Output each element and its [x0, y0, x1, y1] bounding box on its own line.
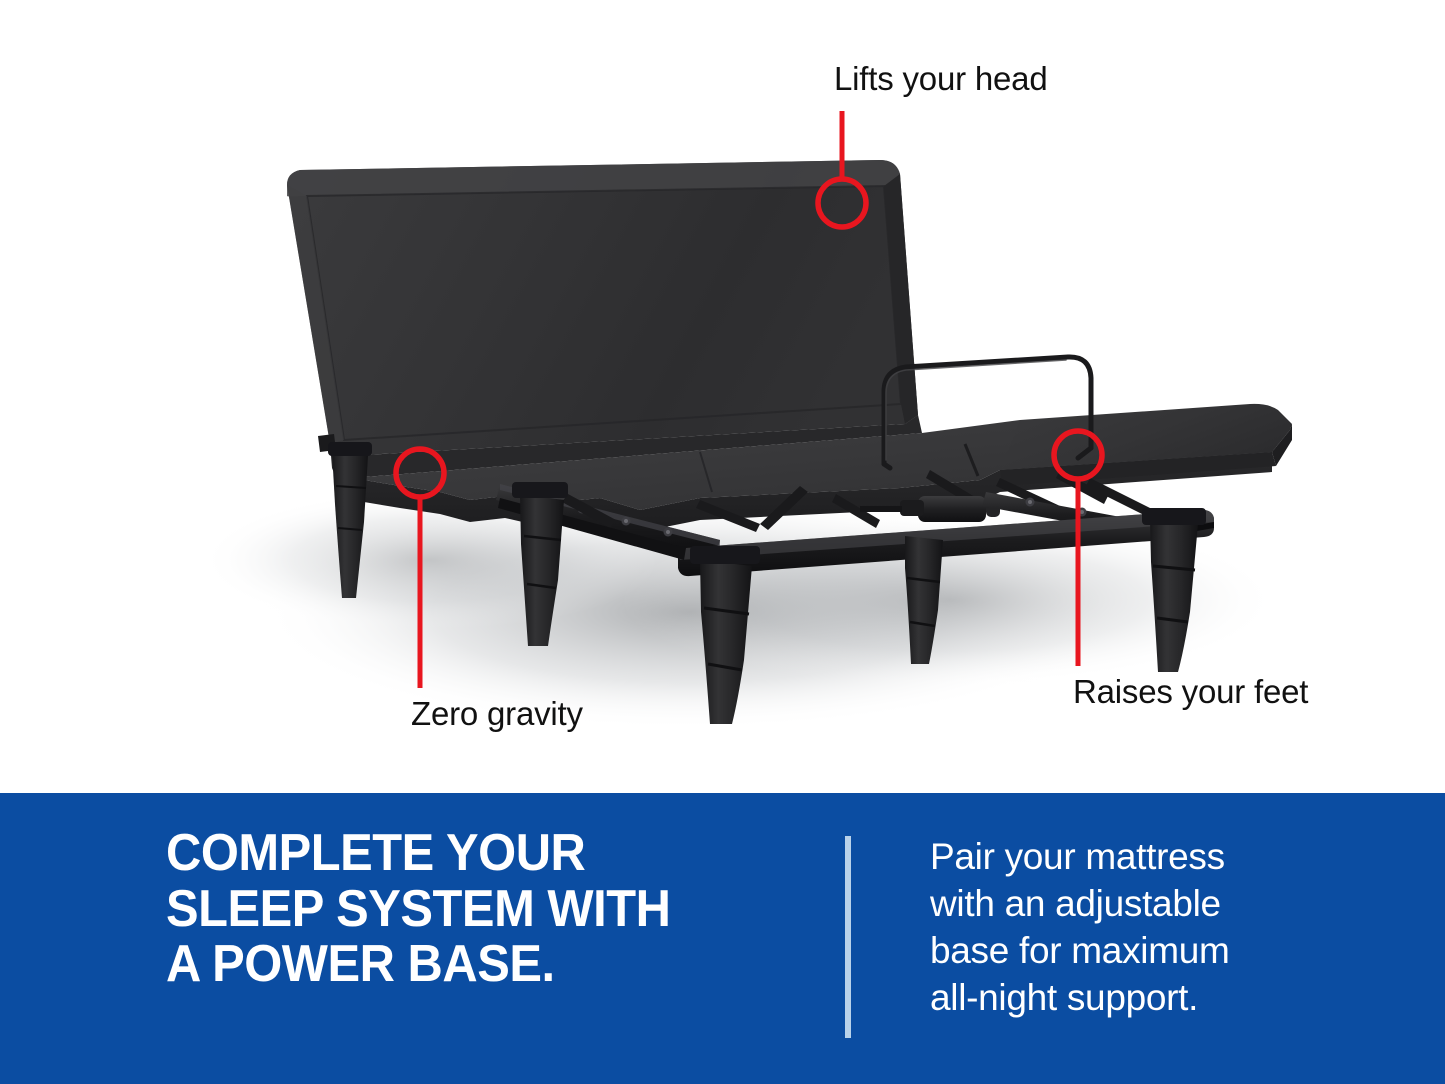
- subcopy-line-1: Pair your mattress: [930, 834, 1330, 881]
- marketing-image-root: Lifts your head Zero gravity Raises your…: [0, 0, 1445, 1084]
- subcopy-line-4: all-night support.: [930, 975, 1330, 1022]
- product-photo-area: Lifts your head Zero gravity Raises your…: [0, 0, 1445, 793]
- subcopy-line-2: with an adjustable: [930, 881, 1330, 928]
- callout-label-raises-your-feet: Raises your feet: [1073, 675, 1308, 708]
- callout-label-lifts-your-head: Lifts your head: [834, 62, 1047, 95]
- headline-line-1: COMPLETE YOUR: [166, 826, 768, 882]
- banner-headline: COMPLETE YOUR SLEEP SYSTEM WITH A POWER …: [166, 826, 768, 993]
- banner-subcopy: Pair your mattress with an adjustable ba…: [930, 834, 1330, 1022]
- banner-vertical-divider: [845, 836, 851, 1038]
- headline-line-2: SLEEP SYSTEM WITH: [166, 882, 768, 938]
- head-section-panel: [287, 160, 918, 456]
- subcopy-line-3: base for maximum: [930, 928, 1330, 975]
- headline-line-3: A POWER BASE.: [166, 937, 768, 993]
- callout-label-zero-gravity: Zero gravity: [411, 697, 583, 730]
